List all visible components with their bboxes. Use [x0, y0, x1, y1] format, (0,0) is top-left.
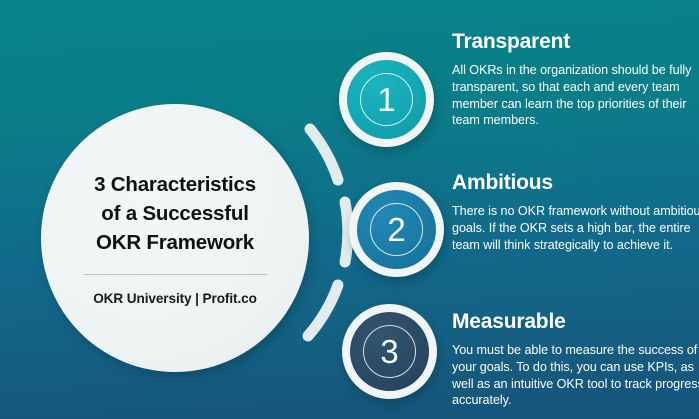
- step-badge-3-disc: 3: [350, 312, 429, 391]
- step-badge-2: 2: [349, 182, 444, 277]
- step-number-3: 3: [380, 335, 398, 368]
- step-text-1: Transparent All OKRs in the organization…: [452, 31, 699, 129]
- main-title-circle: 3 Characteristics of a Successful OKR Fr…: [41, 104, 309, 372]
- step-badge-1: 1: [339, 52, 434, 147]
- step-badge-1-disc: 1: [347, 60, 426, 139]
- page-title: 3 Characteristics of a Successful OKR Fr…: [94, 170, 256, 257]
- step-badge-3: 3: [342, 304, 437, 399]
- step-body-3: You must be able to measure the success …: [452, 342, 699, 409]
- arc-segment-middle: [345, 202, 348, 262]
- step-number-1: 1: [377, 83, 395, 116]
- step-number-2: 2: [387, 213, 405, 246]
- step-heading-2: Ambitious: [452, 172, 699, 194]
- okr-infographic: 3 Characteristics of a Successful OKR Fr…: [0, 0, 699, 419]
- arc-segment-top: [310, 129, 338, 180]
- step-body-2: There is no OKR framework without ambiti…: [452, 203, 699, 253]
- arc-segment-bottom: [308, 285, 338, 336]
- step-heading-1: Transparent: [452, 31, 699, 53]
- step-heading-3: Measurable: [452, 311, 699, 333]
- step-badge-2-disc: 2: [357, 190, 436, 269]
- step-text-2: Ambitious There is no OKR framework with…: [452, 172, 699, 253]
- title-divider: [84, 274, 267, 275]
- step-body-1: All OKRs in the organization should be f…: [452, 62, 699, 129]
- brand-subtitle: OKR University | Profit.co: [93, 291, 257, 306]
- step-text-3: Measurable You must be able to measure t…: [452, 311, 699, 409]
